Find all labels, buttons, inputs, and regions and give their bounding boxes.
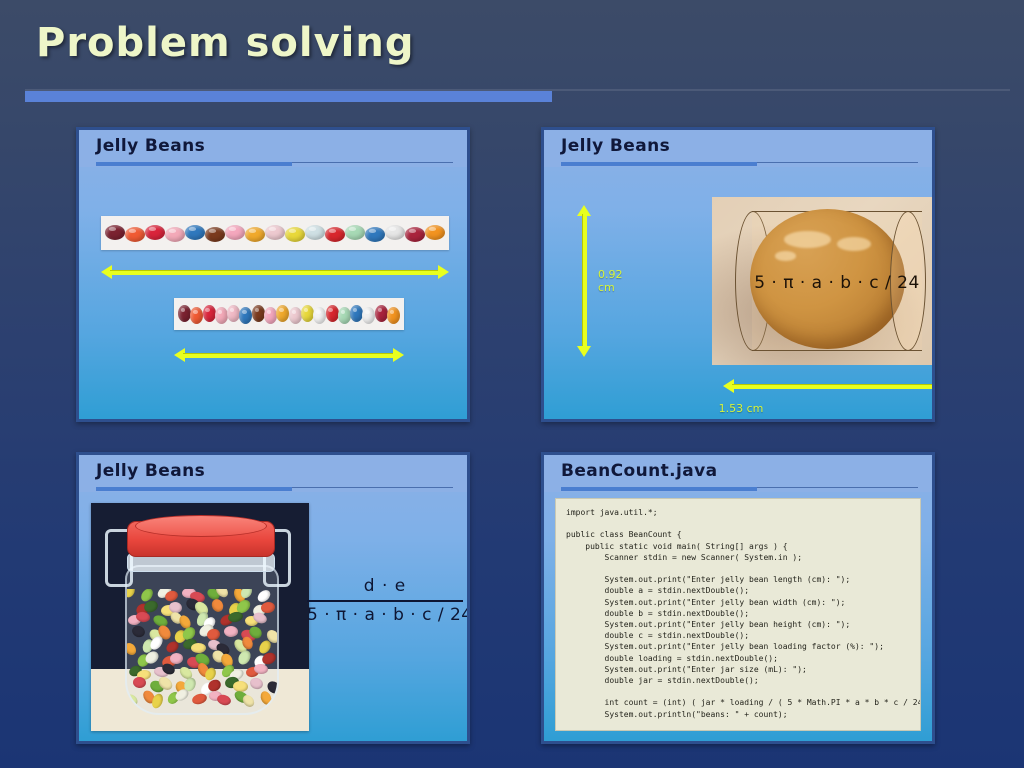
panel-body: 5 · π · a · b · c / 24 0.92 cm 1.53 cm [544, 167, 932, 419]
jelly-bean [178, 305, 191, 322]
jelly-bean [350, 305, 363, 322]
panel-beancount-java: BeanCount.java import java.util.*; publi… [541, 452, 935, 744]
bean-row-long-image [101, 216, 449, 250]
jelly-bean [260, 601, 276, 614]
java-source-code: import java.util.*; public class BeanCou… [566, 507, 910, 731]
jelly-bean [224, 626, 238, 637]
jelly-bean [127, 692, 140, 708]
jelly-bean [365, 227, 385, 242]
panel-title: Jelly Beans [561, 136, 670, 156]
jelly-bean [362, 307, 375, 324]
jelly-bean [249, 676, 265, 691]
jelly-bean [145, 225, 165, 240]
jelly-bean [325, 227, 345, 242]
jelly-bean [338, 307, 351, 324]
bean-row-short-image [174, 298, 404, 330]
jar-glass-body [125, 565, 279, 715]
jelly-bean [216, 693, 232, 707]
panel-header: Jelly Beans [79, 130, 467, 167]
jelly-bean [227, 305, 240, 322]
jelly-bean [127, 589, 136, 599]
jelly-bean [245, 227, 265, 242]
panel-rule-bar [561, 487, 757, 491]
arrow-shaft [183, 353, 395, 358]
jelly-bean [127, 641, 138, 657]
arrow-shaft [110, 270, 440, 275]
arrow-long-measure [101, 265, 449, 279]
panel-rule-bar [96, 487, 292, 491]
jelly-bean [210, 597, 226, 614]
jelly-bean [405, 227, 425, 242]
jelly-bean [276, 305, 289, 322]
jelly-bean [326, 305, 339, 322]
panel-title: BeanCount.java [561, 461, 717, 481]
panel-rule-bar [96, 162, 292, 166]
jelly-bean [170, 653, 184, 665]
jelly-bean [125, 227, 145, 242]
panel-body: import java.util.*; public class BeanCou… [544, 492, 932, 741]
jelly-bean [385, 225, 405, 240]
gloss-highlight [837, 237, 871, 251]
jelly-bean [239, 307, 252, 324]
panel-jelly-bean-dimensions: Jelly Beans 5 · π · a · b · c / 24 [541, 127, 935, 422]
arrow-width-measure [723, 379, 935, 393]
jar-bean-fill [127, 589, 277, 713]
jelly-bean [190, 307, 203, 324]
panel-header: Jelly Beans [79, 455, 467, 492]
jelly-bean [165, 227, 185, 242]
fraction-denominator: 5 · π · a · b · c / 24 [307, 605, 463, 625]
arrow-short-measure [174, 348, 404, 362]
jelly-bean [313, 307, 326, 324]
arrow-head-right-icon [438, 265, 449, 279]
fraction-bar [307, 600, 463, 602]
height-dimension-label: 0.92 cm [598, 268, 623, 294]
panel-body: d · e 5 · π · a · b · c / 24 [79, 492, 467, 741]
panel-title: Jelly Beans [96, 136, 205, 156]
jelly-bean-jar-photo [91, 503, 309, 731]
panel-jelly-bean-jar: Jelly Beans d · e 5 · π · a · b · c / 24 [76, 452, 470, 744]
jelly-bean-photo: 5 · π · a · b · c / 24 [712, 197, 935, 365]
jelly-bean [215, 307, 228, 324]
panel-header: BeanCount.java [544, 455, 932, 492]
jelly-bean [203, 305, 216, 322]
jelly-bean [105, 225, 125, 240]
panel-rule-bar [561, 162, 757, 166]
height-value: 0.92 [598, 268, 623, 281]
jelly-bean [205, 227, 225, 242]
fraction-numerator: d · e [307, 576, 463, 598]
panel-jelly-beans-lengths: Jelly Beans [76, 127, 470, 422]
jelly-bean [345, 225, 365, 240]
jelly-bean [225, 225, 245, 240]
jelly-bean [387, 307, 400, 324]
arrow-height-measure [577, 205, 591, 357]
panel-header: Jelly Beans [544, 130, 932, 167]
arrow-head-right-icon [393, 348, 404, 362]
jelly-bean [130, 624, 146, 639]
width-dimension-label: 1.53 cm [544, 402, 935, 415]
jelly-bean [132, 676, 146, 689]
arrow-head-bottom-icon [577, 346, 591, 357]
jelly-bean [264, 307, 277, 324]
jelly-bean [289, 307, 302, 324]
jar-lid-top [135, 515, 267, 537]
jelly-bean [305, 225, 325, 240]
code-listing: import java.util.*; public class BeanCou… [555, 498, 921, 731]
jelly-bean [252, 305, 265, 322]
gloss-highlight [784, 231, 831, 248]
jelly-bean [301, 305, 314, 322]
jelly-bean [191, 643, 206, 653]
panel-body [79, 167, 467, 419]
jelly-bean [185, 225, 205, 240]
jelly-bean [375, 305, 388, 322]
gloss-highlight [775, 251, 797, 261]
jelly-bean [425, 225, 445, 240]
bean-count-fraction: d · e 5 · π · a · b · c / 24 [307, 576, 463, 625]
jelly-bean [285, 227, 305, 242]
height-unit: cm [598, 281, 623, 294]
jelly-bean [265, 225, 285, 240]
arrow-shaft [732, 384, 935, 389]
page-title: Problem solving [36, 20, 415, 66]
panel-title: Jelly Beans [96, 461, 205, 481]
arrow-shaft [582, 214, 587, 348]
jelly-bean [191, 692, 208, 706]
volume-formula: 5 · π · a · b · c / 24 [712, 273, 935, 293]
title-rule-bar [25, 91, 552, 102]
